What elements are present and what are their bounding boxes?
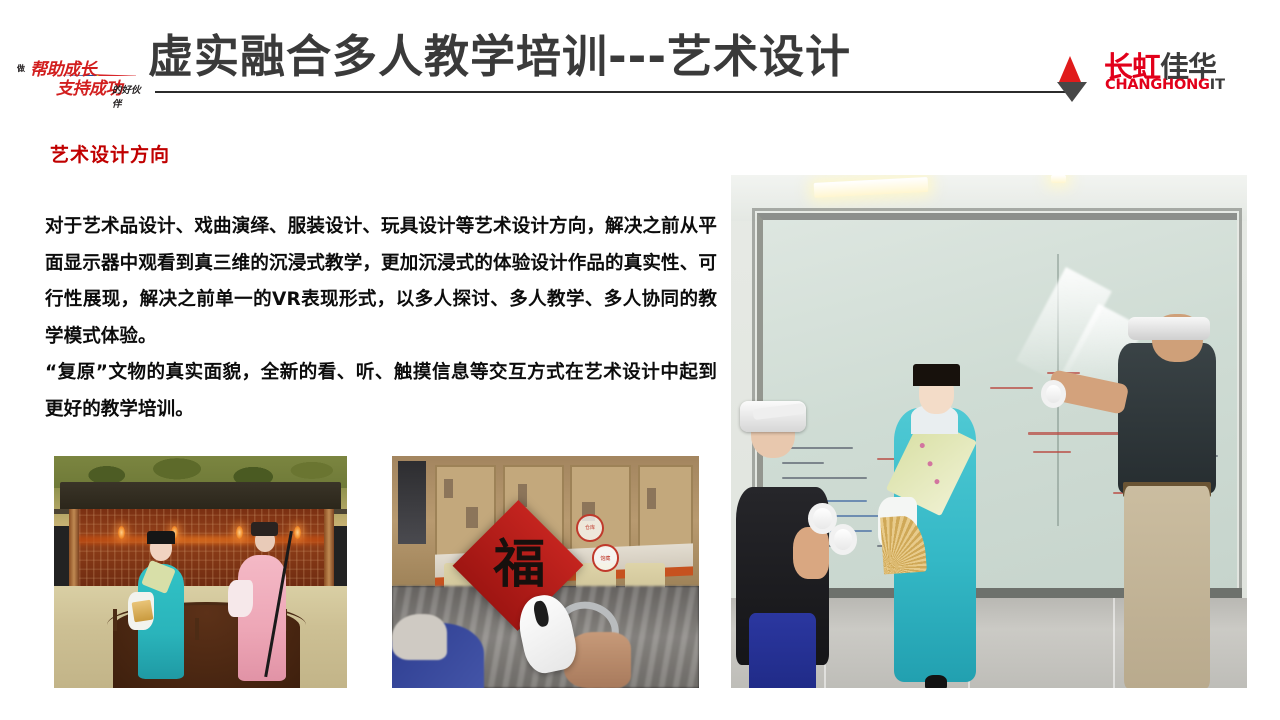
sash-floral-dot <box>927 460 934 467</box>
board-writing <box>1033 451 1071 453</box>
figure-hat <box>251 522 277 536</box>
person-trousers <box>1124 486 1209 688</box>
image-vr-fu-papercut: 福 仓库 馆藏 <box>392 456 699 688</box>
ceiling-fixture <box>1051 175 1066 183</box>
figure-sleeve <box>228 580 252 617</box>
section-heading: 艺术设计方向 <box>50 140 170 167</box>
sash-floral-dot <box>934 479 941 486</box>
image-classroom-mixed-reality <box>731 175 1247 688</box>
person-torso <box>1118 343 1217 493</box>
changhong-logo-cn: 长虹佳华 <box>1104 44 1216 74</box>
paragraph-1: 对于艺术品设计、戏曲演绎、服装设计、玩具设计等艺术设计方向，解决之前从平面显示器… <box>45 209 717 355</box>
vr-controller <box>829 524 857 555</box>
board-writing <box>990 387 1033 389</box>
brand-suffix: 的好伙伴 <box>112 82 146 110</box>
brand-slogan: 做 帮助成长 支持成功 的好伙伴 <box>14 54 146 74</box>
stage-roof <box>60 482 341 512</box>
page-title: 虚实融合多人教学培训---艺术设计 <box>148 28 908 88</box>
character-hat <box>913 364 960 386</box>
opera-figure-teal <box>136 535 186 679</box>
slide-header: 做 帮助成长 支持成功 的好伙伴 虚实融合多人教学培训---艺术设计 长虹佳华 … <box>0 0 1280 115</box>
seal-label: 仓库 <box>576 514 604 542</box>
user-sleeve <box>392 614 447 660</box>
paragraph-2: “复原”文物的真实面貌，全新的看、听、触摸信息等交互方式在艺术设计中起到更好的教… <box>45 355 717 428</box>
brand-prefix: 做 <box>17 63 25 74</box>
figure-fan <box>132 600 154 623</box>
changhong-logo-en: CHANGHONGIT <box>1105 74 1225 93</box>
room-doorway <box>398 461 426 545</box>
stage-pillar-right <box>324 509 334 593</box>
stage-lantern <box>294 526 301 539</box>
shelf-item <box>444 479 453 498</box>
triangle-down-icon <box>1057 82 1087 102</box>
virtual-opera-character <box>886 370 984 688</box>
image-vr-opera-stage <box>54 456 347 688</box>
shelf-item <box>647 488 656 509</box>
person-skirt <box>749 613 816 688</box>
header-divider <box>155 91 1075 93</box>
vr-headset <box>1128 317 1210 339</box>
person-right-with-headset <box>1077 314 1247 688</box>
partner-brand-logo: 做 帮助成长 支持成功 的好伙伴 <box>14 32 144 94</box>
person-hands <box>793 527 830 579</box>
changhong-en-red: CHANGHONG <box>1105 77 1210 93</box>
seal-label: 馆藏 <box>592 544 620 572</box>
figure-hat <box>147 531 175 544</box>
person-left-with-headset <box>736 401 844 688</box>
triangle-up-icon <box>1059 56 1081 82</box>
stage-pillar-left <box>69 509 79 593</box>
body-copy: 对于艺术品设计、戏曲演绎、服装设计、玩具设计等艺术设计方向，解决之前从平面显示器… <box>45 209 717 428</box>
sash-floral-dot <box>919 442 926 449</box>
railing-post <box>113 609 117 631</box>
figure-robe <box>238 555 287 681</box>
opera-figure-pink <box>236 528 289 681</box>
changhong-it-logo: 长虹佳华 CHANGHONGIT <box>1104 44 1254 92</box>
stage-hall <box>72 509 330 588</box>
changhong-en-dark: IT <box>1210 77 1225 93</box>
fu-character: 福 <box>487 526 551 605</box>
character-shoe <box>925 675 947 688</box>
railing-post <box>195 618 199 640</box>
shelf-item <box>466 507 478 528</box>
stage-lattice-screen <box>72 509 330 588</box>
